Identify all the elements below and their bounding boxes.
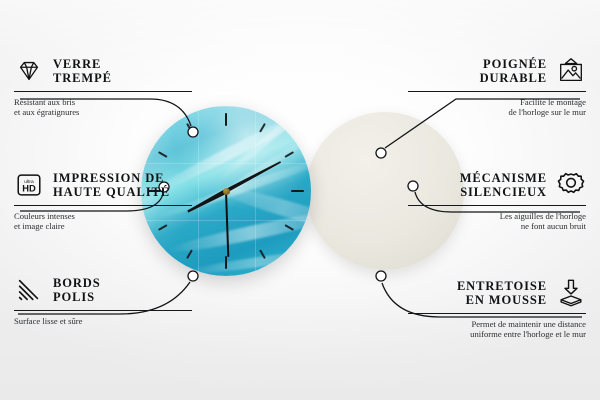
feature-description: Résistant aux bris et aux égratignures — [14, 97, 192, 118]
feature-title: VERRE TREMPÉ — [53, 57, 112, 85]
polished-edges-icon — [14, 275, 44, 305]
feature-divider — [408, 205, 586, 206]
feature-description: Les aiguilles de l'horloge ne font aucun… — [408, 211, 586, 232]
feature-header: POIGNÉE DURABLE — [408, 56, 586, 86]
feature-divider — [14, 310, 192, 311]
feature-divider — [408, 91, 586, 92]
feature-divider — [14, 205, 192, 206]
feature-description: Couleurs intenses et image claire — [14, 211, 192, 232]
feature-divider — [14, 91, 192, 92]
ultra-hd-icon: ultra HD — [14, 170, 44, 200]
connector-dot-verre-trempe — [188, 127, 198, 137]
feature-description: Facilite le montage de l'horloge sur le … — [408, 97, 586, 118]
diamond-icon — [14, 56, 44, 86]
feature-description: Permet de maintenir une distance uniform… — [408, 319, 586, 340]
feature-verre-trempe: VERRE TREMPÉ Résistant aux bris et aux é… — [14, 56, 192, 118]
connector-dot-entretoise — [376, 271, 386, 281]
feature-title: BORDS POLIS — [53, 276, 101, 304]
feature-bords-polis: BORDS POLIS Surface lisse et sûre — [14, 275, 192, 326]
infographic-canvas: VERRE TREMPÉ Résistant aux bris et aux é… — [0, 0, 600, 400]
feature-header: ultra HD IMPRESSION DE HAUTE QUALITÉ — [14, 170, 192, 200]
feature-mecanisme-silencieux: MÉCANISME SILENCIEUX Les aiguilles de l'… — [408, 170, 586, 232]
feature-poignee-durable: POIGNÉE DURABLE Facilite le montage de l… — [408, 56, 586, 118]
feature-title: MÉCANISME SILENCIEUX — [460, 171, 547, 199]
feature-description: Surface lisse et sûre — [14, 316, 192, 326]
feature-header: MÉCANISME SILENCIEUX — [408, 170, 586, 200]
connector-dot-poignee — [376, 148, 386, 158]
feature-title: POIGNÉE DURABLE — [480, 57, 547, 85]
feature-impression-haute-qualite: ultra HD IMPRESSION DE HAUTE QUALITÉ Cou… — [14, 170, 192, 232]
svg-text:HD: HD — [22, 184, 36, 194]
feature-header: VERRE TREMPÉ — [14, 56, 192, 86]
foam-spacer-icon — [556, 278, 586, 308]
feature-divider — [408, 313, 586, 314]
gear-icon — [556, 170, 586, 200]
feature-title: IMPRESSION DE HAUTE QUALITÉ — [53, 171, 170, 199]
feature-entretoise-en-mousse: ENTRETOISE EN MOUSSE Permet de maintenir… — [408, 278, 586, 340]
picture-hanger-icon — [556, 56, 586, 86]
feature-header: BORDS POLIS — [14, 275, 192, 305]
feature-title: ENTRETOISE EN MOUSSE — [457, 279, 547, 307]
feature-header: ENTRETOISE EN MOUSSE — [408, 278, 586, 308]
